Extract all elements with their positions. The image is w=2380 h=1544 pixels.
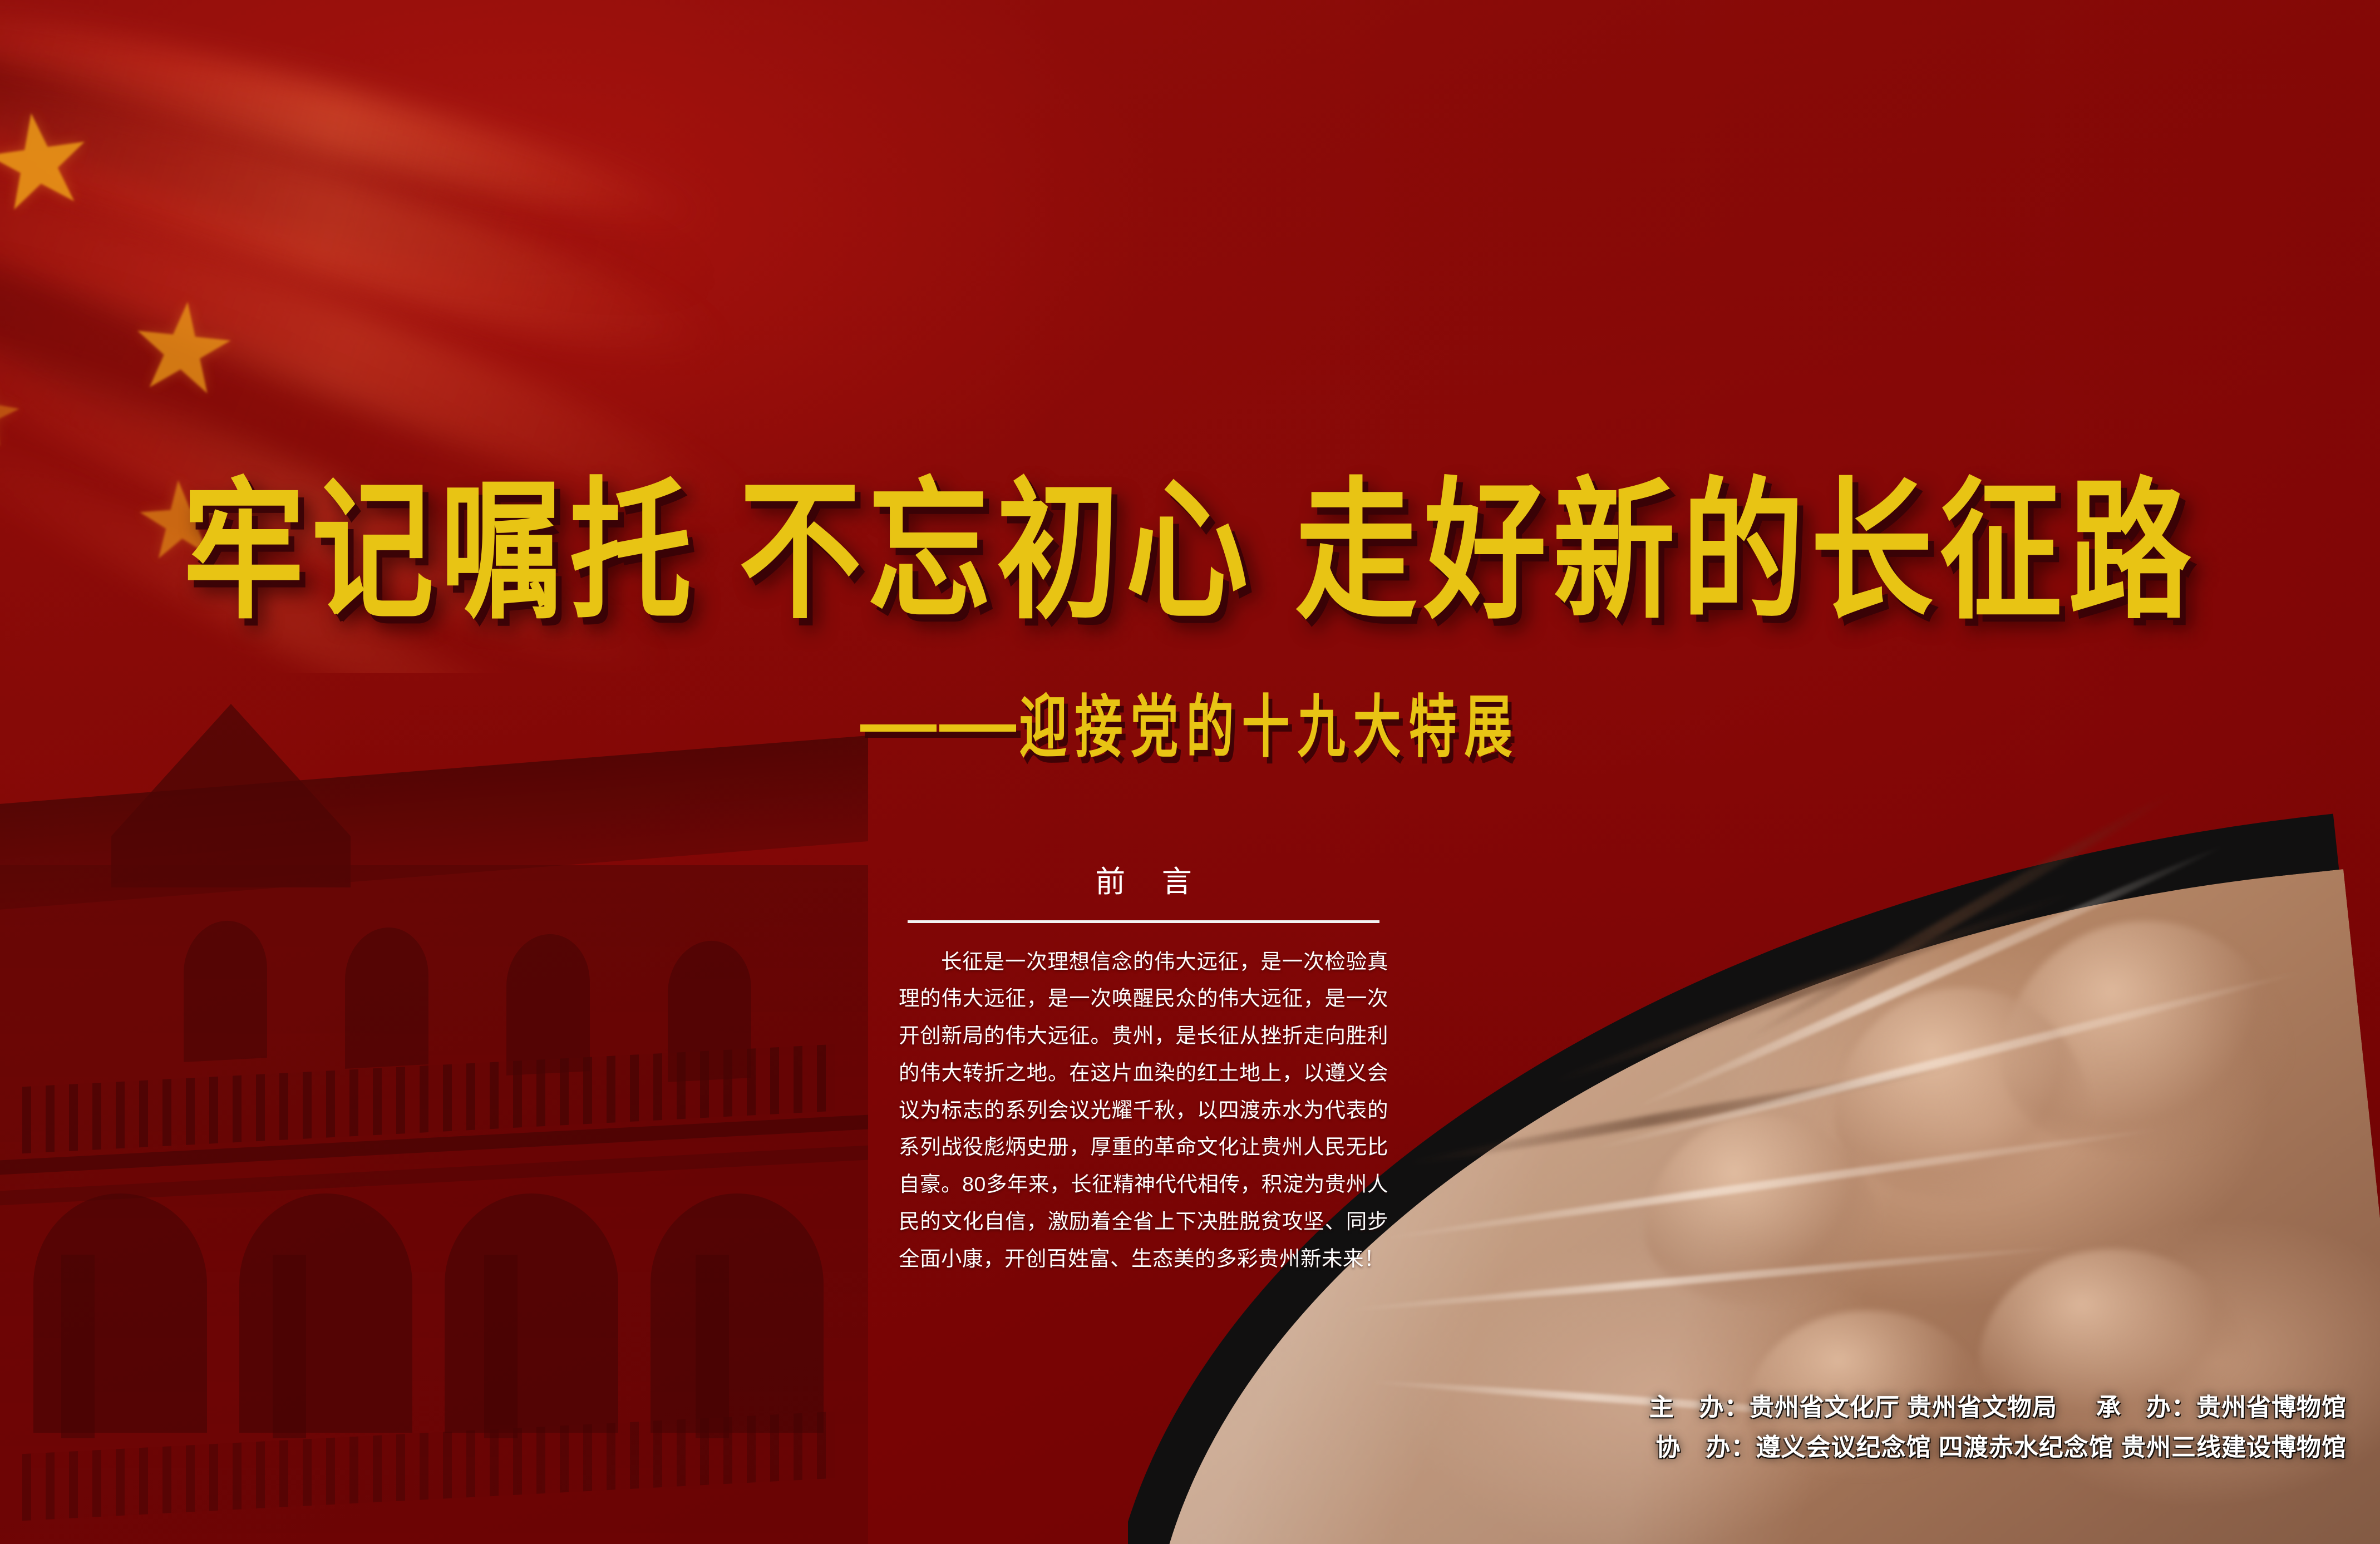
flag-star-icon: ★ bbox=[122, 281, 244, 414]
building-column bbox=[273, 1255, 306, 1438]
preface-heading: 前 言 bbox=[899, 864, 1388, 901]
building-arch bbox=[239, 1193, 413, 1433]
building-column bbox=[61, 1255, 95, 1438]
poster-main-title: 牢记嘱托 不忘初心 走好新的长征路 bbox=[0, 476, 2380, 628]
building-roof bbox=[0, 736, 868, 911]
zunyi-conference-site-watermark bbox=[0, 754, 846, 1544]
relief-highlight-streak bbox=[1382, 1124, 2165, 1242]
relief-figure bbox=[2002, 921, 2291, 1155]
flag-star-icon: ★ bbox=[0, 90, 104, 233]
organizer-label: 承 办： bbox=[2096, 1394, 2196, 1421]
relief-groove bbox=[1549, 887, 2076, 1088]
poster-subtitle: 迎接党的十九大特展 bbox=[1019, 694, 1520, 762]
preface-divider bbox=[908, 920, 1379, 923]
coorganizer-label: 协 办： bbox=[1656, 1434, 1756, 1461]
relief-highlight-streak bbox=[1589, 968, 2304, 1155]
flag-fold-highlight-1 bbox=[0, 0, 708, 250]
credits-line-1: 主 办：贵州省文化厅 贵州省文物局承 办：贵州省博物馆 bbox=[1649, 1388, 2347, 1427]
relief-highlight-streak bbox=[1346, 1243, 2067, 1314]
building-arch bbox=[445, 1193, 618, 1433]
building-arch bbox=[651, 1193, 824, 1433]
building-window bbox=[345, 925, 428, 1069]
relief-figure bbox=[1835, 988, 2091, 1199]
building-arch bbox=[33, 1193, 207, 1433]
building-column bbox=[696, 1255, 729, 1438]
flag-star-icon: ★ bbox=[0, 361, 31, 462]
building-facade bbox=[0, 865, 868, 1544]
building-ledge bbox=[0, 1115, 868, 1176]
relief-highlight-streak bbox=[1632, 841, 2226, 1113]
poster-subtitle-row: 迎接党的十九大特展 bbox=[0, 704, 2380, 752]
relief-figure bbox=[1645, 1116, 1879, 1305]
building-ledge bbox=[0, 1146, 868, 1206]
relief-groove bbox=[1743, 787, 2182, 1045]
credits-line-2: 协 办：遵义会议纪念馆 四渡赤水纪念馆 贵州三线建设博物馆 bbox=[1649, 1428, 2347, 1467]
building-balcony-railing bbox=[22, 1044, 835, 1154]
flag-fold-highlight-2 bbox=[0, 33, 731, 394]
preface-body-text: 长征是一次理想信念的伟大远征，是一次检验真理的伟大远征，是一次唤醒民众的伟大远征… bbox=[899, 943, 1388, 1277]
building-window bbox=[668, 939, 751, 1082]
flag-fold-shadow-1 bbox=[0, 16, 735, 339]
building-window bbox=[184, 919, 267, 1062]
host-label: 主 办： bbox=[1649, 1394, 1750, 1421]
subtitle-dash bbox=[860, 724, 1016, 732]
host-value: 贵州省文化厅 贵州省文物局 bbox=[1750, 1394, 2057, 1421]
organizer-value: 贵州省博物馆 bbox=[2196, 1394, 2347, 1421]
preface-block: 前 言 长征是一次理想信念的伟大远征，是一次检验真理的伟大远征，是一次唤醒民众的… bbox=[899, 864, 1388, 1277]
organizer-credits: 主 办：贵州省文化厅 贵州省文物局承 办：贵州省博物馆 协 办：遵义会议纪念馆 … bbox=[1649, 1388, 2347, 1467]
coorganizer-value: 遵义会议纪念馆 四渡赤水纪念馆 贵州三线建设博物馆 bbox=[1756, 1434, 2347, 1461]
relief-groove bbox=[1404, 1062, 1954, 1169]
building-column bbox=[484, 1255, 518, 1438]
building-lower-railing bbox=[22, 1412, 835, 1521]
building-window bbox=[506, 932, 590, 1076]
exhibition-poster: ★ ★ ★ ★ bbox=[0, 0, 2380, 1544]
building-arcade bbox=[33, 1193, 824, 1433]
